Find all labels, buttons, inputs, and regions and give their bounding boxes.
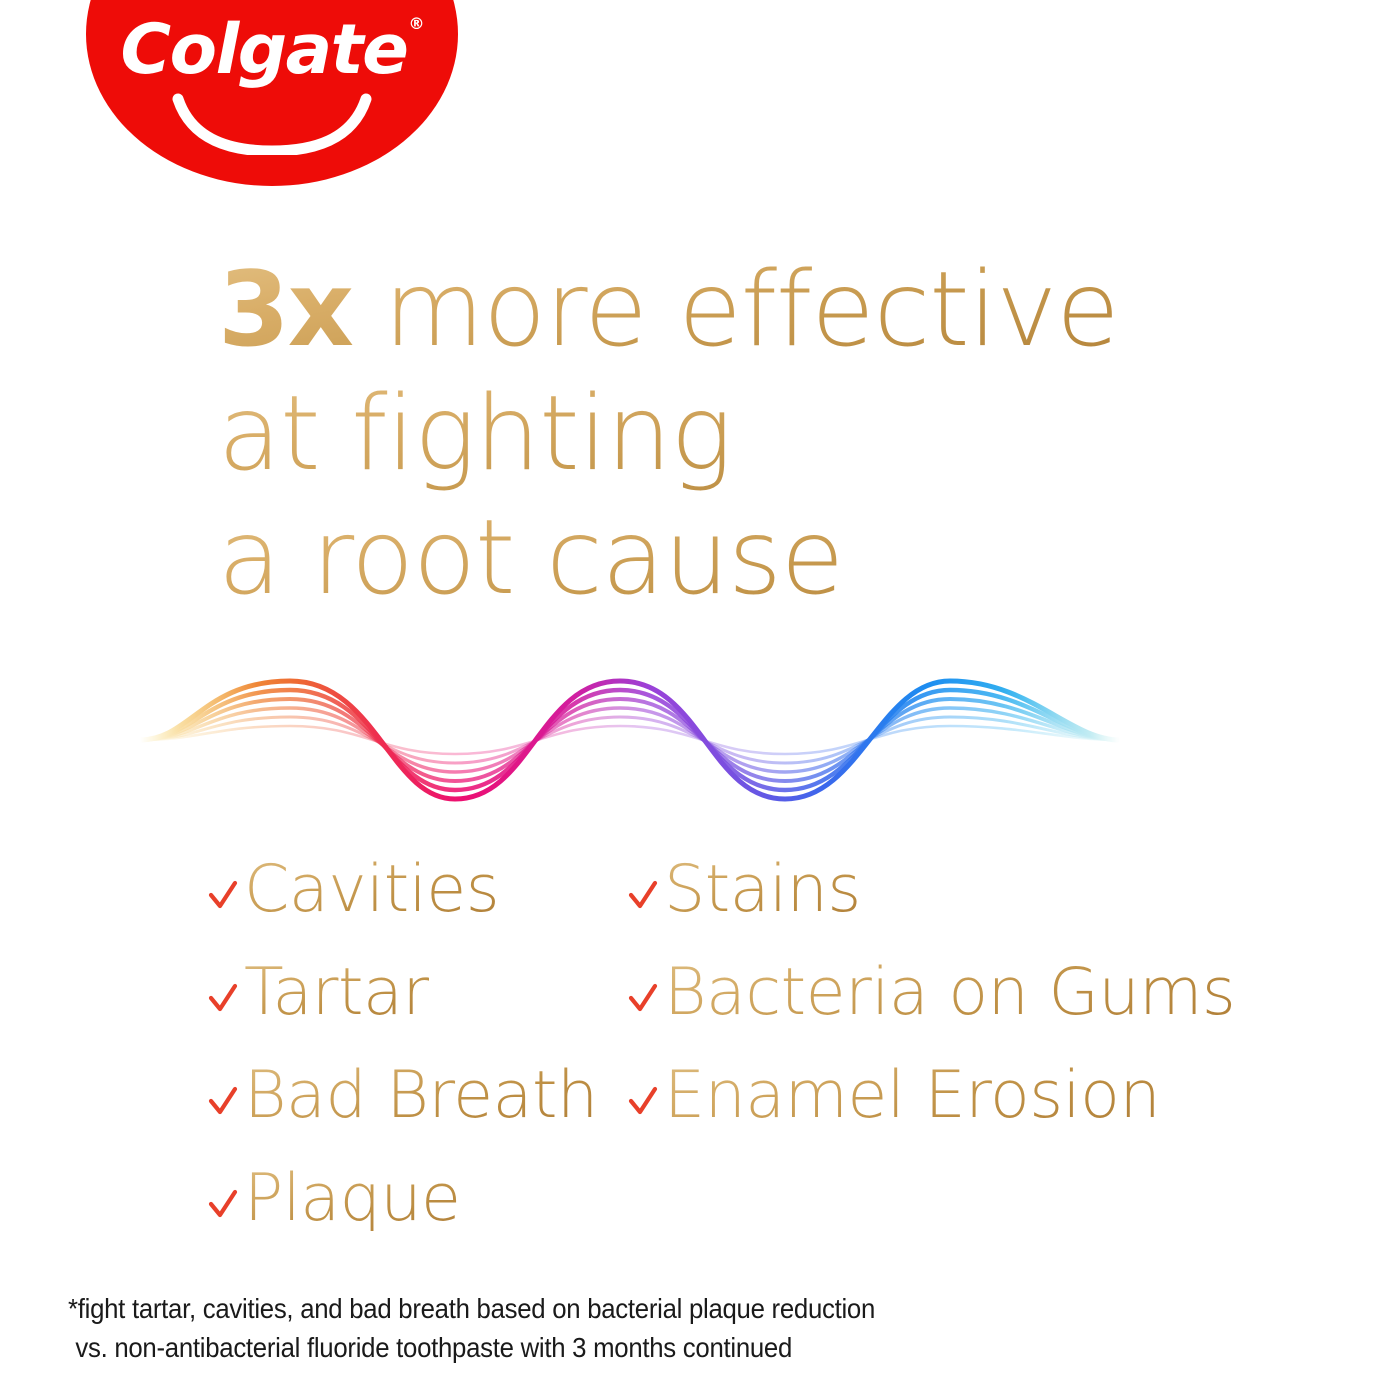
benefit-row: Cavities Stains (208, 838, 1268, 941)
check-icon (208, 1188, 238, 1222)
benefit-item-stains: Stains (628, 857, 1248, 922)
benefit-item-tartar: Tartar (208, 960, 628, 1025)
benefit-row: Bad Breath Enamel Erosion (208, 1044, 1268, 1147)
benefit-item-bacteria-on-gums: Bacteria on Gums (628, 960, 1248, 1025)
benefits-list: Cavities Stains Tartar (208, 838, 1268, 1250)
check-icon (208, 1085, 238, 1119)
benefit-label: Plaque (244, 1166, 461, 1231)
benefit-label: Cavities (244, 857, 499, 922)
smile-curve-icon (172, 93, 372, 160)
footnote-marker: * (843, 510, 871, 578)
headline-line-1: 3x more effective (218, 248, 1318, 372)
headline-line-1-rest: more effective (352, 250, 1119, 370)
registered-trademark-icon: ® (408, 14, 424, 33)
footnote-block: *fight tartar, cavities, and bad breath … (68, 1289, 1168, 1367)
check-icon (628, 879, 658, 913)
check-icon (628, 1085, 658, 1119)
benefit-label: Tartar (244, 960, 429, 1025)
colgate-logo: Colgate® (86, 0, 458, 186)
check-icon (628, 982, 658, 1016)
headline-block: 3x more effective at fighting a root cau… (218, 248, 1318, 620)
footnote-line-1: *fight tartar, cavities, and bad breath … (68, 1289, 1080, 1328)
headline-multiplier: 3x (218, 250, 352, 370)
benefit-row: Plaque (208, 1147, 1268, 1250)
benefit-label: Bad Breath (244, 1063, 598, 1128)
check-icon (208, 982, 238, 1016)
benefit-label: Stains (664, 857, 861, 922)
headline-line-3: a root cause* (218, 496, 1318, 620)
check-icon (208, 879, 238, 913)
logo-brand-text: Colgate (121, 10, 408, 90)
logo-content: Colgate® (86, 0, 458, 186)
benefit-item-enamel-erosion: Enamel Erosion (628, 1063, 1248, 1128)
footnote-line-2: vs. non-antibacterial fluoride toothpast… (68, 1328, 1080, 1367)
benefit-label: Bacteria on Gums (664, 960, 1235, 1025)
benefit-item-cavities: Cavities (208, 857, 628, 922)
headline-line-3-text: a root cause (218, 498, 843, 618)
benefit-label: Enamel Erosion (664, 1063, 1160, 1128)
benefit-row: Tartar Bacteria on Gums (208, 941, 1268, 1044)
logo-wordmark: Colgate® (121, 16, 424, 85)
benefit-item-bad-breath: Bad Breath (208, 1063, 628, 1128)
multicolor-sine-wave-graphic (140, 645, 1120, 820)
benefit-item-plaque: Plaque (208, 1166, 628, 1231)
headline-line-2: at fighting (218, 372, 1318, 496)
